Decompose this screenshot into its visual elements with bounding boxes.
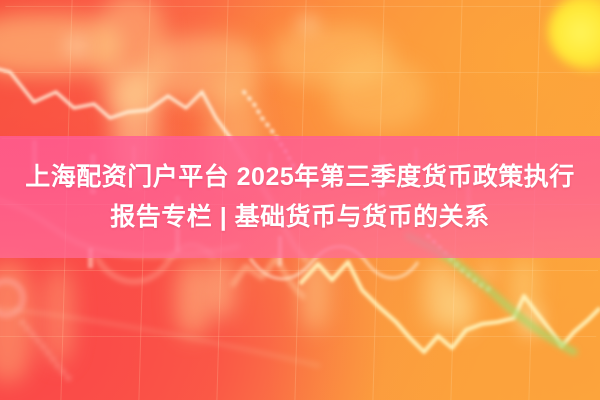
chart-trend-line-lower-left	[0, 308, 320, 366]
chart-line-upper-left	[0, 68, 232, 140]
banner-image: 上海配资门户平台 2025年第三季度货币政策执行 报告专栏 | 基础货币与货币的…	[0, 0, 600, 400]
banner-title-line-1: 上海配资门户平台 2025年第三季度货币政策执行	[25, 157, 575, 197]
banner-title-line-2: 报告专栏 | 基础货币与货币的关系	[110, 197, 489, 237]
title-band: 上海配资门户平台 2025年第三季度货币政策执行 报告专栏 | 基础货币与货币的…	[0, 136, 600, 258]
chart-dotted-series-left	[22, 322, 70, 380]
